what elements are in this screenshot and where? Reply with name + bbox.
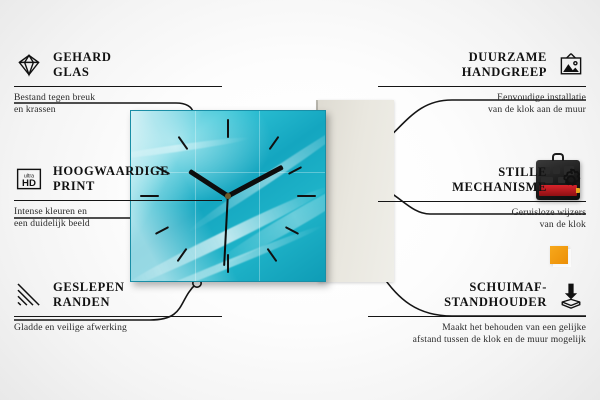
- feature-subtitle: Maakt het behouden van een gelijkeafstan…: [368, 322, 586, 347]
- feature-hoogwaardige-print: ultra HD HOOGWAARDIGE PRINT Intense kleu…: [14, 164, 222, 231]
- minute-hand: [227, 165, 284, 199]
- mechanism-hanger: [552, 153, 564, 161]
- divider: [378, 201, 586, 202]
- feature-subtitle: Gladde en veilige afwerking: [14, 322, 222, 334]
- diamond-icon: [14, 50, 44, 80]
- gear-icon: [556, 165, 586, 195]
- divider: [14, 86, 222, 87]
- feature-subtitle: Eenvoudige installatievan de klok aan de…: [378, 92, 586, 117]
- feature-schuimafstandhouder: SCHUIMAF- STANDHOUDER Maakt het behouden…: [368, 280, 586, 347]
- divider: [378, 86, 586, 87]
- spacer-arrow-icon: [556, 280, 586, 310]
- feature-subtitle: Bestand tegen breuken krassen: [14, 92, 222, 117]
- divider: [14, 316, 222, 317]
- infographic-canvas: GEHARD GLAS Bestand tegen breuken krasse…: [0, 0, 600, 400]
- hand-cap: [225, 193, 231, 199]
- feature-title: SCHUIMAF- STANDHOUDER: [444, 280, 547, 311]
- feature-subtitle: Intense kleuren eneen duidelijk beeld: [14, 206, 222, 231]
- feature-subtitle: Geruisloze wijzersvan de klok: [378, 207, 586, 232]
- picture-frame-icon: [556, 50, 586, 80]
- feature-title: DUURZAME HANDGREEP: [462, 50, 547, 81]
- feature-title: GESLEPEN RANDEN: [53, 280, 125, 311]
- feature-title: GEHARD GLAS: [53, 50, 111, 81]
- feature-duurzame-handgreep: DUURZAME HANDGREEP Eenvoudige installati…: [378, 50, 586, 117]
- feature-title: HOOGWAARDIGE PRINT: [53, 164, 169, 195]
- feature-title: STILLE MECHANISME: [452, 165, 547, 196]
- divider: [368, 316, 586, 317]
- bevelled-edges-icon: [14, 280, 44, 310]
- feature-stille-mechanisme: STILLE MECHANISME Geruisloze wijzersvan …: [378, 165, 586, 232]
- ultra-hd-icon: ultra HD: [14, 164, 44, 194]
- foam-spacer-pad: [550, 246, 568, 264]
- divider: [14, 200, 222, 201]
- feature-geslepen-randen: GESLEPEN RANDEN Gladde en veilige afwerk…: [14, 280, 222, 334]
- svg-text:HD: HD: [22, 178, 36, 189]
- feature-gehard-glas: GEHARD GLAS Bestand tegen breuken krasse…: [14, 50, 222, 117]
